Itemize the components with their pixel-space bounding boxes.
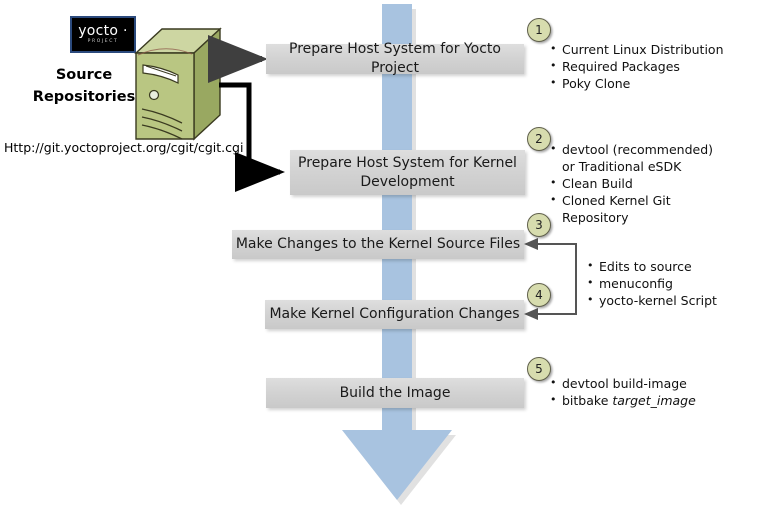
bullet-text-italic: target_image [612, 393, 695, 408]
process-box-step4[interactable]: Make Kernel Configuration Changes [265, 300, 524, 329]
arrowhead-to-step3 [524, 238, 538, 250]
step-number-2: 2 [527, 127, 551, 151]
step-number-5: 5 [527, 357, 551, 381]
bullets-step5: devtool build-image bitbake target_image [549, 375, 749, 409]
bullets-step1: Current Linux Distribution Required Pack… [549, 41, 761, 92]
process-box-step3[interactable]: Make Changes to the Kernel Source Files [232, 230, 524, 259]
source-label-line1: Source [22, 64, 146, 86]
step-number-4-text: 4 [535, 288, 543, 302]
bullet-item: devtool build-image [549, 375, 749, 392]
step-number-5-text: 5 [535, 362, 543, 376]
process-box-step2-label: Prepare Host System for Kernel Developme… [290, 154, 525, 192]
step-number-4: 4 [527, 283, 551, 307]
bullets-step2: devtool (recommended) or Traditional eSD… [549, 141, 729, 226]
logo-subtext: PROJECT [88, 39, 119, 45]
step-number-2-text: 2 [535, 132, 543, 146]
bullets-step3-step4: Edits to source menuconfig yocto-kernel … [586, 258, 761, 309]
process-box-step5[interactable]: Build the Image [266, 378, 524, 408]
process-box-step2[interactable]: Prepare Host System for Kernel Developme… [290, 150, 525, 195]
process-box-step1-label: Prepare Host System for Yocto Project [266, 40, 524, 78]
step-number-1: 1 [527, 18, 551, 42]
bullet-item: bitbake target_image [549, 392, 749, 409]
bullet-item: menuconfig [586, 275, 761, 292]
step-number-1-text: 1 [535, 23, 543, 37]
connector-server-to-step2 [219, 85, 280, 172]
bullet-item: Edits to source [586, 258, 761, 275]
bullet-text-prefix: bitbake [562, 393, 612, 408]
bullet-item: Poky Clone [549, 75, 761, 92]
step-number-3: 3 [527, 213, 551, 237]
process-box-step1[interactable]: Prepare Host System for Yocto Project [266, 44, 524, 74]
source-label-line2: Repositories [22, 86, 146, 108]
step-number-3-text: 3 [535, 218, 543, 232]
process-box-step4-label: Make Kernel Configuration Changes [269, 305, 519, 324]
source-repositories-label: Source Repositories [22, 64, 146, 108]
bullet-item: yocto-kernel Script [586, 292, 761, 309]
yocto-project-logo: yocto · PROJECT [70, 16, 136, 53]
diagram-canvas: yocto · PROJECT Source Repositories Http… [0, 0, 769, 517]
process-box-step3-label: Make Changes to the Kernel Source Files [236, 235, 520, 254]
process-box-step5-label: Build the Image [340, 384, 451, 403]
bullet-item: Required Packages [549, 58, 761, 75]
bullet-item: Clean Build [549, 175, 729, 192]
bullet-item: Current Linux Distribution [549, 41, 761, 58]
server-icon [132, 27, 224, 143]
logo-wordmark: yocto · [78, 24, 128, 38]
bullet-item: Cloned Kernel Git Repository [549, 192, 729, 226]
bullet-item: devtool (recommended) or Traditional eSD… [549, 141, 729, 175]
arrowhead-to-step4 [524, 308, 538, 320]
